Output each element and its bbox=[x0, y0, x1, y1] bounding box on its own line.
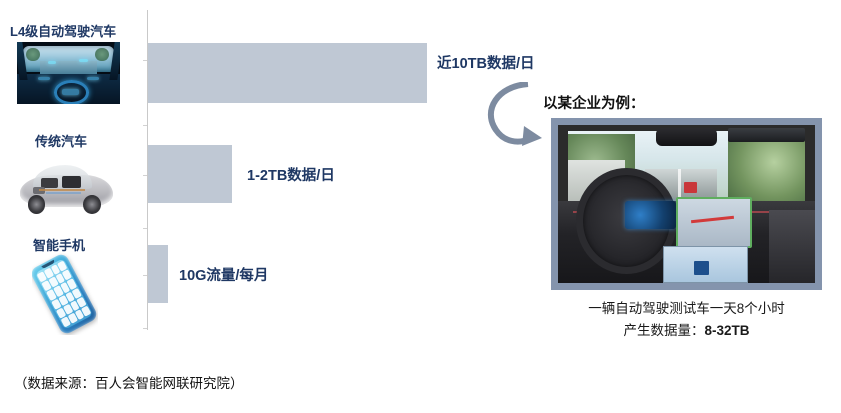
example-photo-frame bbox=[551, 118, 822, 290]
rearview-mirror-shape bbox=[656, 128, 718, 145]
hud-overlay bbox=[79, 59, 88, 62]
tire-shape bbox=[83, 195, 101, 214]
example-title: 以某企业为例： bbox=[543, 92, 645, 113]
autonomous-cockpit-photo bbox=[17, 42, 120, 104]
bar-l4-autonomous-car bbox=[148, 43, 427, 103]
category-label-traditional-car: 传统汽车 bbox=[35, 131, 87, 150]
curved-arrow-icon bbox=[484, 82, 548, 148]
tree-shape bbox=[26, 48, 39, 62]
bar-smartphone bbox=[148, 245, 168, 303]
autonomous-test-vehicle-photo bbox=[558, 125, 815, 283]
value-label-smartphone: 10G流量/每月 bbox=[179, 264, 268, 285]
foliage-shape bbox=[728, 133, 805, 206]
axis-tick bbox=[143, 125, 147, 126]
value-label-traditional-car: 1-2TB数据/日 bbox=[247, 164, 335, 185]
example-caption-line-2: 产生数据量：8-32TB bbox=[551, 319, 822, 339]
car-ahead-shape bbox=[684, 182, 697, 193]
source-note: （数据来源：百人会智能网联研究院） bbox=[14, 372, 244, 392]
category-label-smartphone: 智能手机 bbox=[33, 235, 85, 254]
example-caption-line-1: 一辆自动驾驶测试车一天8个小时 bbox=[551, 297, 822, 317]
tire-shape bbox=[28, 195, 46, 214]
test-laptop-shape bbox=[663, 246, 747, 283]
phone-screen-shape bbox=[35, 258, 93, 330]
axis-tick bbox=[143, 275, 147, 276]
sun-visor-shape bbox=[728, 128, 805, 142]
value-label-l4-autonomous-car: 近10TB数据/日 bbox=[437, 52, 535, 73]
smartphone-photo bbox=[32, 253, 98, 335]
wiring-shape bbox=[39, 189, 85, 191]
axis-tick bbox=[143, 60, 147, 61]
axis-tick bbox=[143, 328, 147, 329]
axis-tick bbox=[143, 175, 147, 176]
tree-shape bbox=[95, 48, 108, 62]
bar-traditional-car bbox=[148, 145, 232, 203]
hud-overlay bbox=[87, 77, 99, 81]
hud-overlay bbox=[38, 77, 50, 81]
slide-canvas: L4级自动驾驶汽车 传统汽车 智能手机 近10TB数据/日 1-2TB数据/日 … bbox=[0, 0, 841, 413]
hud-overlay bbox=[48, 61, 56, 64]
example-caption-prefix: 产生数据量： bbox=[623, 323, 704, 338]
hud-overlay bbox=[62, 89, 78, 95]
axis-tick bbox=[143, 228, 147, 229]
component-shape bbox=[62, 176, 81, 188]
instrument-cluster-shape bbox=[625, 201, 676, 229]
category-label-l4-autonomous-car: L4级自动驾驶汽车 bbox=[10, 21, 116, 40]
example-caption-value: 8-32TB bbox=[704, 323, 749, 338]
transparent-car-photo bbox=[14, 152, 119, 224]
center-display-shape bbox=[676, 197, 752, 248]
door-panel-shape bbox=[769, 210, 815, 283]
phone-body-shape bbox=[32, 253, 98, 335]
wiring-shape bbox=[46, 192, 82, 194]
